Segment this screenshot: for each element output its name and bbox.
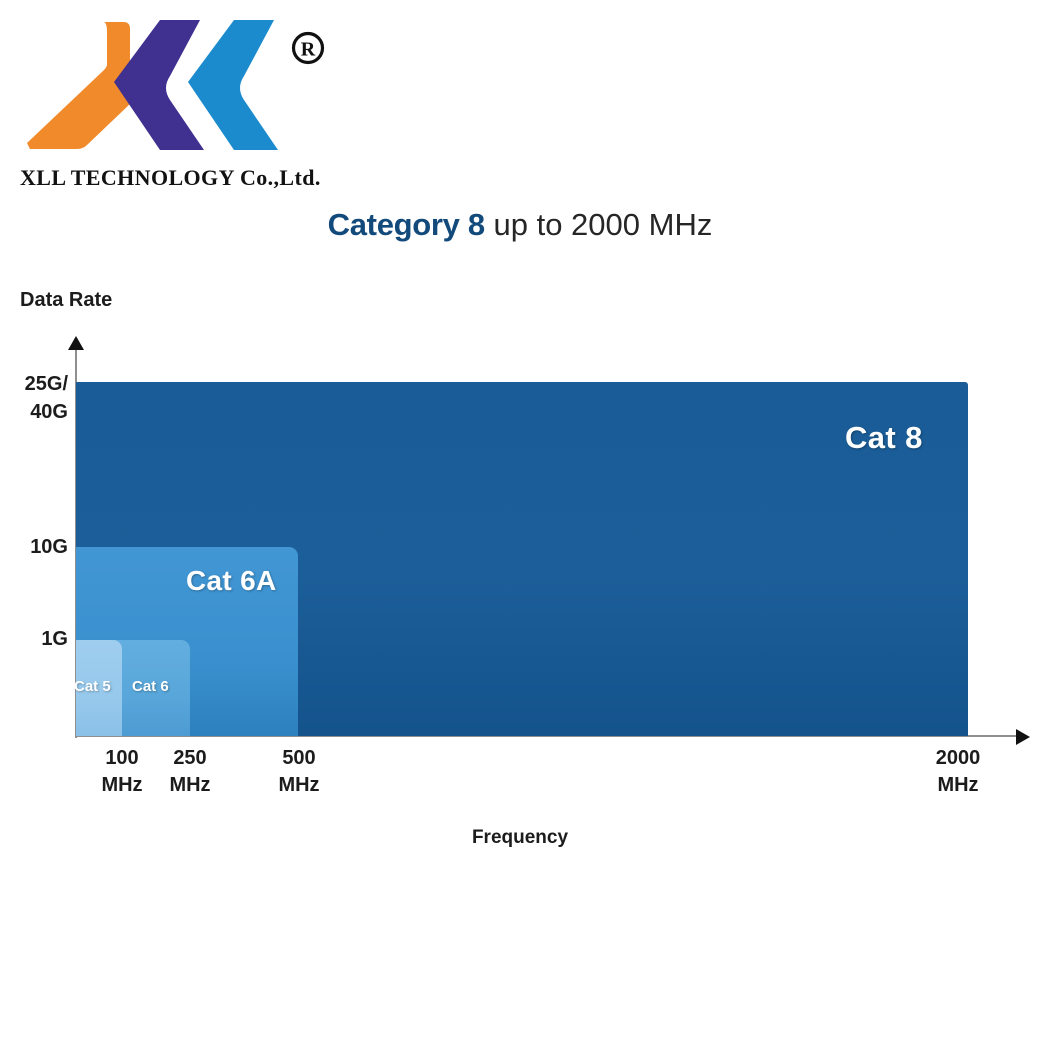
x-tick-100-value: 100 (105, 747, 138, 769)
y-tick-25g-40g: 25G/40G (2, 370, 68, 426)
band-label-cat6a: Cat 6A (186, 565, 277, 597)
band-label-cat5: Cat 5 (74, 678, 111, 695)
y-tick-25g-line1: 25G/ (25, 373, 68, 395)
x-tick-2000-value: 2000 (936, 747, 981, 769)
band-label-cat6: Cat 6 (132, 678, 169, 695)
band-label-cat8: Cat 8 (845, 420, 923, 456)
x-tick-250-unit: MHz (135, 772, 245, 799)
x-tick-2000-unit: MHz (903, 772, 1013, 799)
chart-page: R XLL TECHNOLOGY Co.,Ltd. Category 8 up … (0, 0, 1040, 1040)
x-tick-500-value: 500 (282, 747, 315, 769)
y-tick-10g: 10G (2, 536, 68, 559)
y-tick-40g-line2: 40G (30, 401, 68, 423)
x-axis-title: Frequency (0, 827, 1040, 849)
x-tick-250mhz: 250MHz (135, 745, 245, 799)
x-tick-250-value: 250 (173, 747, 206, 769)
chart-plot-area: Data Rate Cat 8 Cat 6A Cat 6 Cat 5 25G/4… (0, 0, 1040, 1040)
y-axis-arrow-icon (68, 336, 84, 350)
y-tick-1g: 1G (2, 628, 68, 651)
y-axis-title: Data Rate (20, 289, 112, 312)
x-axis-arrow-icon (1016, 729, 1030, 745)
x-tick-2000mhz: 2000MHz (903, 745, 1013, 799)
x-tick-500-unit: MHz (244, 772, 354, 799)
x-tick-500mhz: 500MHz (244, 745, 354, 799)
